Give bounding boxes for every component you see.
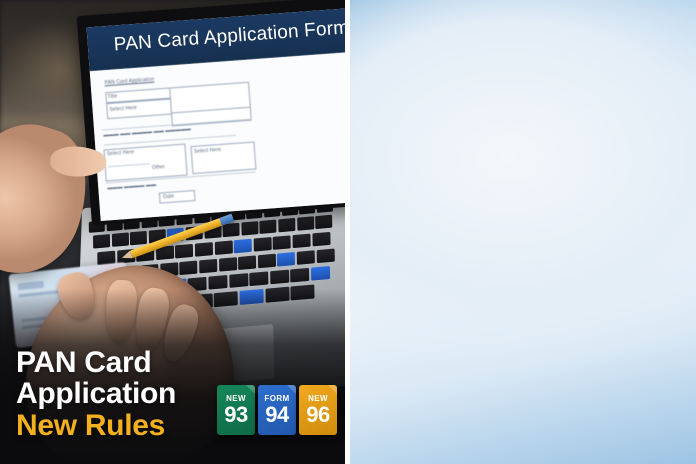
keyboard-key	[273, 235, 291, 250]
form-field-label-other: Other	[152, 164, 165, 171]
keyboard-key	[316, 249, 334, 264]
keyboard-key	[219, 257, 237, 272]
keyboard-key	[297, 216, 314, 231]
flowchart-panel: PAN Application Process Form 93 Indian I…	[350, 0, 696, 464]
keyboard-key	[311, 266, 330, 281]
keyboard-key	[315, 215, 332, 230]
badge-93: NEW 93	[217, 385, 255, 435]
photo-panel: PAN Card Application Form PAN Card Appli…	[0, 0, 345, 464]
keyboard-key	[93, 234, 110, 249]
keyboard-key	[214, 240, 232, 255]
form-field-label-title: Title	[107, 93, 117, 100]
keyboard-key	[258, 254, 276, 269]
keyboard-key	[229, 273, 248, 288]
keyboard-key	[111, 232, 128, 247]
form-body: PAN Card Application Title Select Here ▬…	[90, 50, 345, 221]
keyboard-key	[290, 268, 309, 283]
keyboard-key	[297, 250, 315, 265]
keyboard-key	[292, 234, 310, 249]
form-section-label: PAN Card Application	[104, 77, 154, 87]
corner-fold-icon	[328, 385, 337, 394]
keyboard-key	[180, 261, 198, 276]
keyboard-key	[175, 244, 193, 259]
badge-94-number: 94	[265, 404, 288, 426]
form-page: PAN Card Application Form PAN Card Appli…	[87, 6, 345, 221]
corner-fold-icon	[246, 385, 255, 394]
corner-fold-icon	[287, 385, 296, 394]
keyboard-key	[253, 237, 271, 252]
keyboard-key	[278, 218, 295, 233]
keyboard-key	[312, 232, 330, 247]
keyboard-key	[270, 270, 289, 285]
form-field-label-date: Date	[163, 194, 174, 201]
laptop-screen: PAN Card Application Form PAN Card Appli…	[77, 0, 345, 226]
badge-group: NEW 93 FORM 94 NEW 96	[217, 385, 337, 435]
form-group-right	[191, 141, 257, 174]
keyboard-key	[130, 231, 147, 246]
headline-line-1: PAN Card	[16, 347, 336, 379]
keyboard-key	[249, 271, 268, 286]
badge-96: NEW 96	[299, 385, 337, 435]
keyboard-key	[238, 255, 256, 270]
form-title: PAN Card Application Form	[113, 17, 345, 56]
keyboard-key	[277, 252, 295, 267]
keyboard-key	[241, 221, 258, 236]
keyboard-key	[208, 275, 227, 290]
keyboard-key	[199, 259, 217, 274]
screenshot-canvas: PAN Card Application Form PAN Card Appli…	[0, 0, 696, 464]
badge-94: FORM 94	[258, 385, 296, 435]
keyboard-key	[195, 242, 213, 257]
badge-96-number: 96	[306, 404, 329, 426]
keyboard-key	[234, 239, 252, 254]
badge-93-number: 93	[224, 404, 247, 426]
keyboard-key	[260, 219, 277, 234]
keyboard-key	[223, 223, 240, 238]
